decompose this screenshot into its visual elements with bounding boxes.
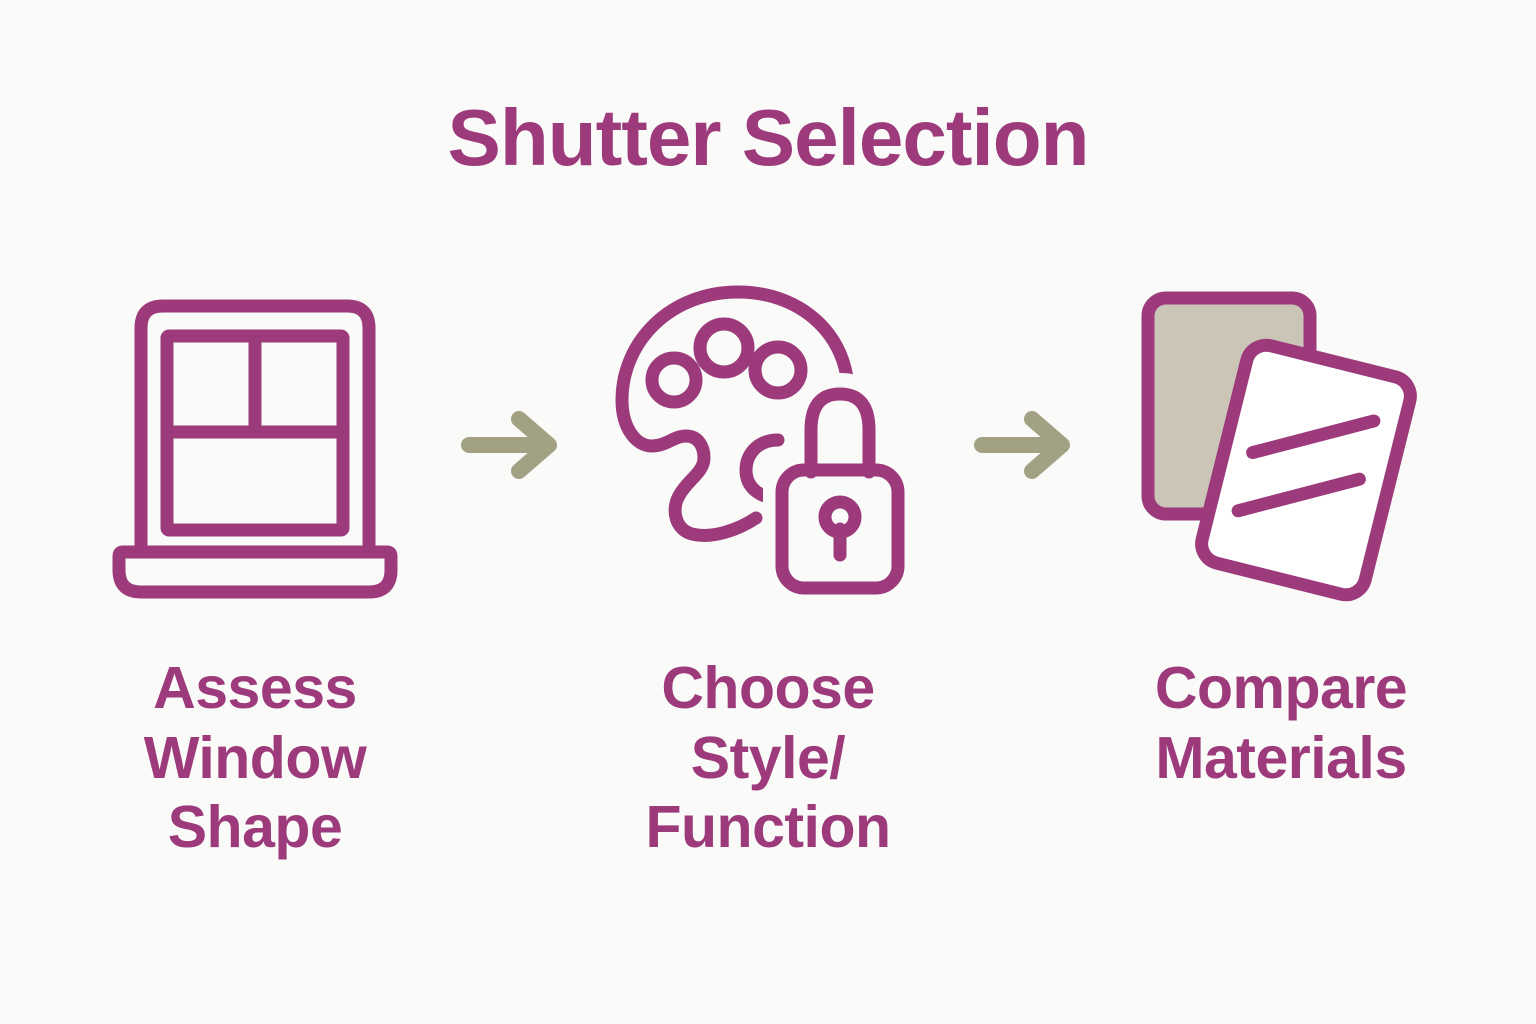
step-assess-window-shape: Assess Window Shape <box>90 280 420 863</box>
infographic-canvas: Shutter Selection <box>0 0 1536 1024</box>
arrow-right-icon <box>457 405 567 485</box>
arrow-right-icon <box>970 405 1080 485</box>
window-icon <box>105 280 405 610</box>
arrow-2-slot <box>965 280 1085 610</box>
palette-lock-icon <box>608 280 928 610</box>
window-icon-slot <box>90 280 420 610</box>
step-label-choose-style-function: Choose Style/ Function <box>645 654 890 863</box>
padlock-shape <box>782 394 898 588</box>
page-title: Shutter Selection <box>0 96 1536 180</box>
step-choose-style-function: Choose Style/ Function <box>603 280 933 863</box>
step-label-assess-window-shape: Assess Window Shape <box>144 654 367 863</box>
process-steps-row: Assess Window Shape <box>90 280 1446 940</box>
material-samples-icon-slot <box>1116 280 1446 610</box>
palette-lock-icon-slot <box>603 280 933 610</box>
step-compare-materials: Compare Materials <box>1116 280 1446 793</box>
material-samples-icon <box>1126 280 1436 610</box>
step-label-compare-materials: Compare Materials <box>1155 654 1407 793</box>
arrow-1-slot <box>452 280 572 610</box>
